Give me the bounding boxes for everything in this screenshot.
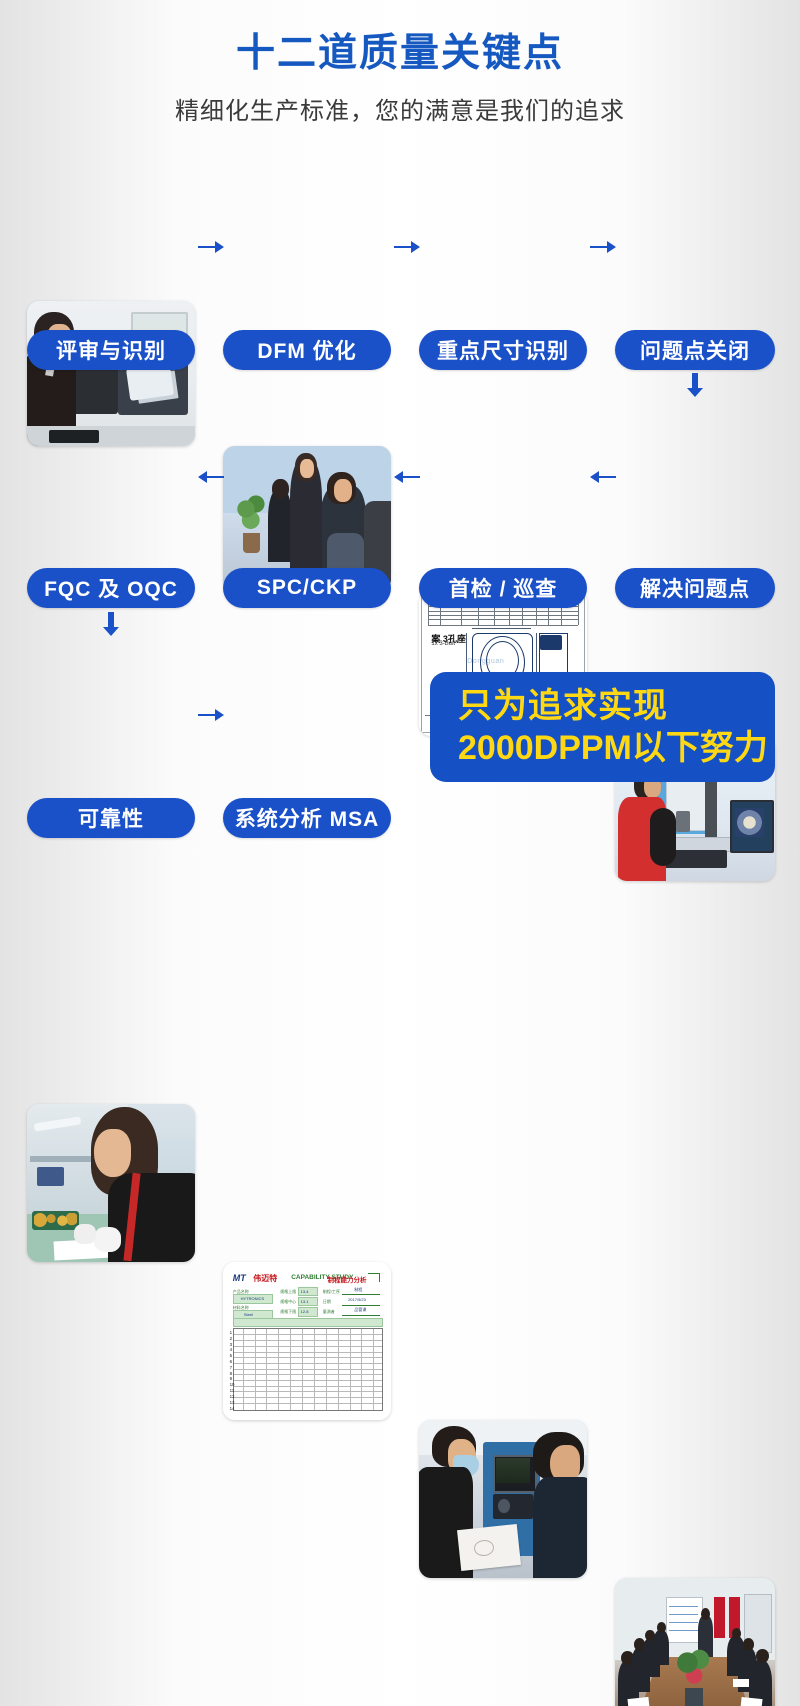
- arrow-row2-3-icon: [590, 468, 616, 486]
- spc-row-number-0: 1: [230, 1330, 232, 1335]
- step-label-spc-ckp[interactable]: SPC/CKP: [223, 568, 391, 608]
- arrow-row3-1-icon: [198, 706, 224, 724]
- spc-row-number-12: 13: [230, 1400, 235, 1405]
- arrow-row2-2-icon: [394, 468, 420, 486]
- promo-line-2: 2000DPPM以下努力: [458, 727, 775, 770]
- spc-field-value-4: 12.8: [301, 1309, 309, 1314]
- spc-row-number-3: 4: [230, 1347, 232, 1352]
- step-label-msa[interactable]: 系统分析 MSA: [223, 798, 391, 838]
- step-label-solve-issue[interactable]: 解决问题点: [615, 568, 775, 608]
- arrow-col1-down-icon: [102, 612, 120, 636]
- spc-row-number-1: 2: [230, 1336, 232, 1341]
- spc-field-value-5: 制程: [354, 1287, 362, 1293]
- photo-team-meeting-room-discussion: [615, 1578, 775, 1706]
- spc-row-number-11: 12: [230, 1394, 235, 1399]
- spc-field-label-6: 日期: [323, 1299, 331, 1305]
- arrow-col4-down-icon: [686, 373, 704, 397]
- photo-operators-reviewing-drawing-at-cnc: [419, 1420, 587, 1578]
- header: 十二道质量关键点 精细化生产标准，您的满意是我们的追求: [0, 0, 800, 126]
- spc-study-title-cn: 制程能力分析: [328, 1274, 367, 1284]
- page-subtitle: 精细化生产标准，您的满意是我们的追求: [0, 91, 800, 126]
- arrow-row1-1-icon: [198, 238, 224, 256]
- spc-row-number-13: 14: [230, 1406, 235, 1411]
- photo-inspector-checking-brass-parts: [27, 1104, 195, 1262]
- step-label-review[interactable]: 评审与识别: [27, 330, 195, 370]
- page-title: 十二道质量关键点: [0, 32, 800, 77]
- spc-field-label-2: 规格上限: [280, 1289, 296, 1295]
- spc-field-value-3: 13.1: [301, 1299, 309, 1304]
- drawing-subheading: 1x 3-Bolt: [431, 641, 455, 647]
- spc-row-number-9: 10: [230, 1382, 235, 1387]
- spc-field-label-3: 规格中心: [280, 1299, 296, 1305]
- step-label-dfm[interactable]: DFM 优化: [223, 330, 391, 370]
- spc-field-value-2: 13.4: [301, 1289, 309, 1294]
- spc-row-number-10: 11: [230, 1388, 235, 1393]
- spc-row-number-4: 5: [230, 1353, 232, 1358]
- arrow-row1-3-icon: [590, 238, 616, 256]
- spc-field-value-6: 2017/5/23: [348, 1297, 366, 1302]
- spc-row-number-2: 3: [230, 1342, 232, 1347]
- spc-row-number-7: 8: [230, 1371, 232, 1376]
- spc-field-label-4: 规格下限: [280, 1309, 296, 1315]
- step-label-fqc-oqc[interactable]: FQC 及 OQC: [27, 568, 195, 608]
- photo-capability-study-spc-form: MT 伟迈特 CAPABILITY STUDY 制程能力分析 产品名称 HYTR…: [223, 1262, 391, 1420]
- step-label-key-dims[interactable]: 重点尺寸识别: [419, 330, 587, 370]
- spc-row-number-6: 7: [230, 1365, 232, 1370]
- step-label-first-patrol[interactable]: 首检 / 巡查: [419, 568, 587, 608]
- arrow-row1-2-icon: [394, 238, 420, 256]
- promo-panel: 只为追求实现 2000DPPM以下努力: [430, 672, 775, 782]
- promo-line-1: 只为追求实现: [458, 685, 775, 728]
- spc-field-value-1: Steel: [244, 1312, 253, 1317]
- infographic-page: 十二道质量关键点 精细化生产标准，您的满意是我们的追求: [0, 0, 800, 853]
- spc-field-value-7: 品管课: [354, 1307, 366, 1313]
- spc-row-number-8: 9: [230, 1376, 232, 1381]
- step-label-issue-close[interactable]: 问题点关闭: [615, 330, 775, 370]
- spc-logo: MT: [233, 1273, 246, 1283]
- spc-field-label-7: 量测者: [323, 1309, 335, 1315]
- arrow-row2-1-icon: [198, 468, 224, 486]
- step-label-reliability[interactable]: 可靠性: [27, 798, 195, 838]
- spc-field-label-5: 制程/工序: [323, 1289, 340, 1295]
- spc-field-value-0: HYTRONICS: [241, 1296, 265, 1301]
- spc-row-number-5: 6: [230, 1359, 232, 1364]
- photo-engineer-dual-monitor-cad: [27, 301, 195, 446]
- spc-brand: 伟迈特: [253, 1273, 277, 1284]
